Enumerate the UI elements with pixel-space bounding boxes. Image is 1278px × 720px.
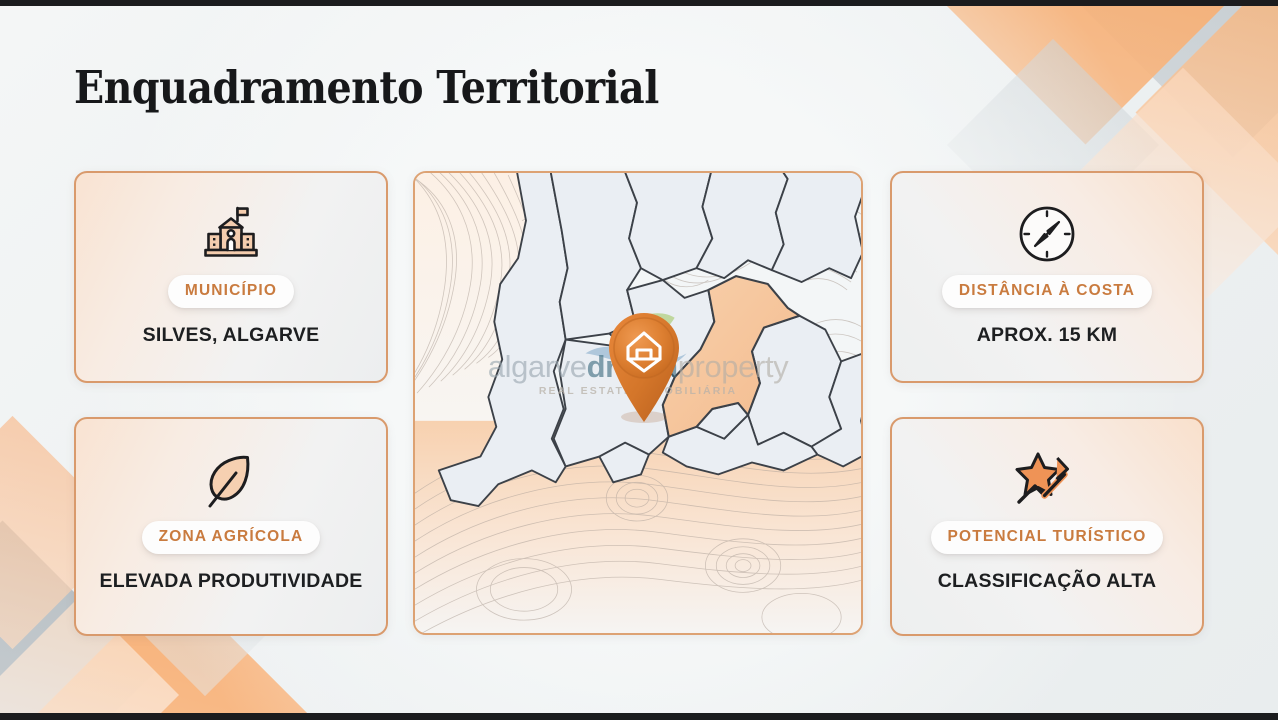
card-value: ELEVADA PRODUTIVIDADE [99,570,362,593]
government-building-icon [200,199,262,269]
card-value: SILVES, ALGARVE [143,324,320,347]
info-card-potencial-turistico[interactable]: POTENCIAL TURÍSTICO CLASSIFICAÇÃO ALTA [890,417,1204,636]
card-value: APROX. 15 KM [977,324,1118,347]
status-badge: MUNICÍPIO [168,275,294,308]
status-badge: ZONA AGRÍCOLA [142,521,321,554]
leaf-icon [202,445,260,515]
letterbox-bottom [0,713,1278,720]
card-value: CLASSIFICAÇÃO ALTA [938,570,1157,593]
status-badge: DISTÂNCIA À COSTA [942,275,1152,308]
slide-canvas: Enquadramento Territorial [0,0,1278,720]
info-card-zona-agricola[interactable]: ZONA AGRÍCOLA ELEVADA PRODUTIVIDADE [74,417,388,636]
compass-icon [1016,199,1078,269]
status-badge: POTENCIAL TURÍSTICO [931,521,1164,554]
info-card-distancia-a-costa[interactable]: DISTÂNCIA À COSTA APROX. 15 KM [890,171,1204,383]
map-graphic [415,173,861,633]
star-trend-up-icon [1011,445,1083,515]
algarve-municipalities-topographic-map[interactable]: algarvedreamproperty REAL ESTATE · IMOBI… [413,171,863,635]
info-card-municipio[interactable]: MUNICÍPIO SILVES, ALGARVE [74,171,388,383]
letterbox-top [0,0,1278,6]
